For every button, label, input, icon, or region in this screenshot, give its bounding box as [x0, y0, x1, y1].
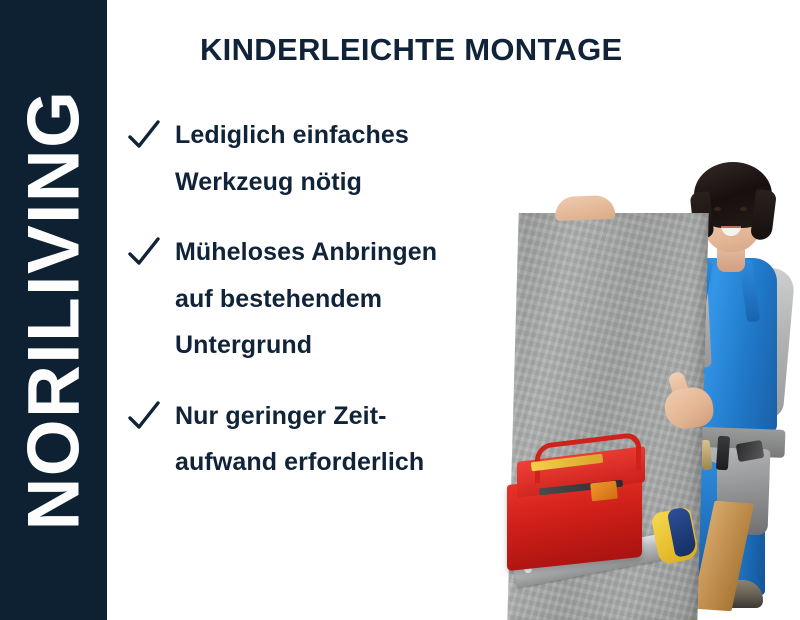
pouch-tool-pliers-icon	[716, 436, 730, 471]
feature-list: Lediglich einfaches Werkzeug nötig Mühel…	[127, 112, 517, 486]
list-item: Lediglich einfaches Werkzeug nötig	[127, 112, 517, 205]
list-item-line: Werkzeug nötig	[175, 159, 517, 206]
promo-banner: NORILIVING KINDERLEICHTE MONTAGE Ledigli…	[0, 0, 800, 620]
list-item-line: Untergrund	[175, 322, 517, 369]
product-photo	[495, 110, 800, 620]
page-title: KINDERLEICHTE MONTAGE	[200, 32, 623, 68]
list-item-line: aufwand erforderlich	[175, 439, 517, 486]
brand-name: NORILIVING	[17, 90, 90, 531]
checkmark-icon	[127, 118, 161, 152]
list-item-line: Lediglich einfaches	[175, 112, 517, 159]
list-item-line: Müheloses Anbringen	[175, 229, 517, 276]
list-item: Nur geringer Zeit- aufwand erforderlich	[127, 393, 517, 486]
worker-hand-top	[555, 195, 616, 221]
checkmark-icon	[127, 235, 161, 269]
toolbox-tool-orange	[590, 481, 618, 502]
list-item: Müheloses Anbringen auf bestehendem Unte…	[127, 229, 517, 369]
list-item-line: Nur geringer Zeit-	[175, 393, 517, 440]
worker-hair-right	[750, 189, 777, 241]
worker-eye-left	[714, 207, 721, 211]
worker-eye-right	[740, 207, 747, 211]
brand-sidebar: NORILIVING	[0, 0, 107, 620]
list-item-line: auf bestehendem	[175, 276, 517, 323]
checkmark-icon	[127, 399, 161, 433]
